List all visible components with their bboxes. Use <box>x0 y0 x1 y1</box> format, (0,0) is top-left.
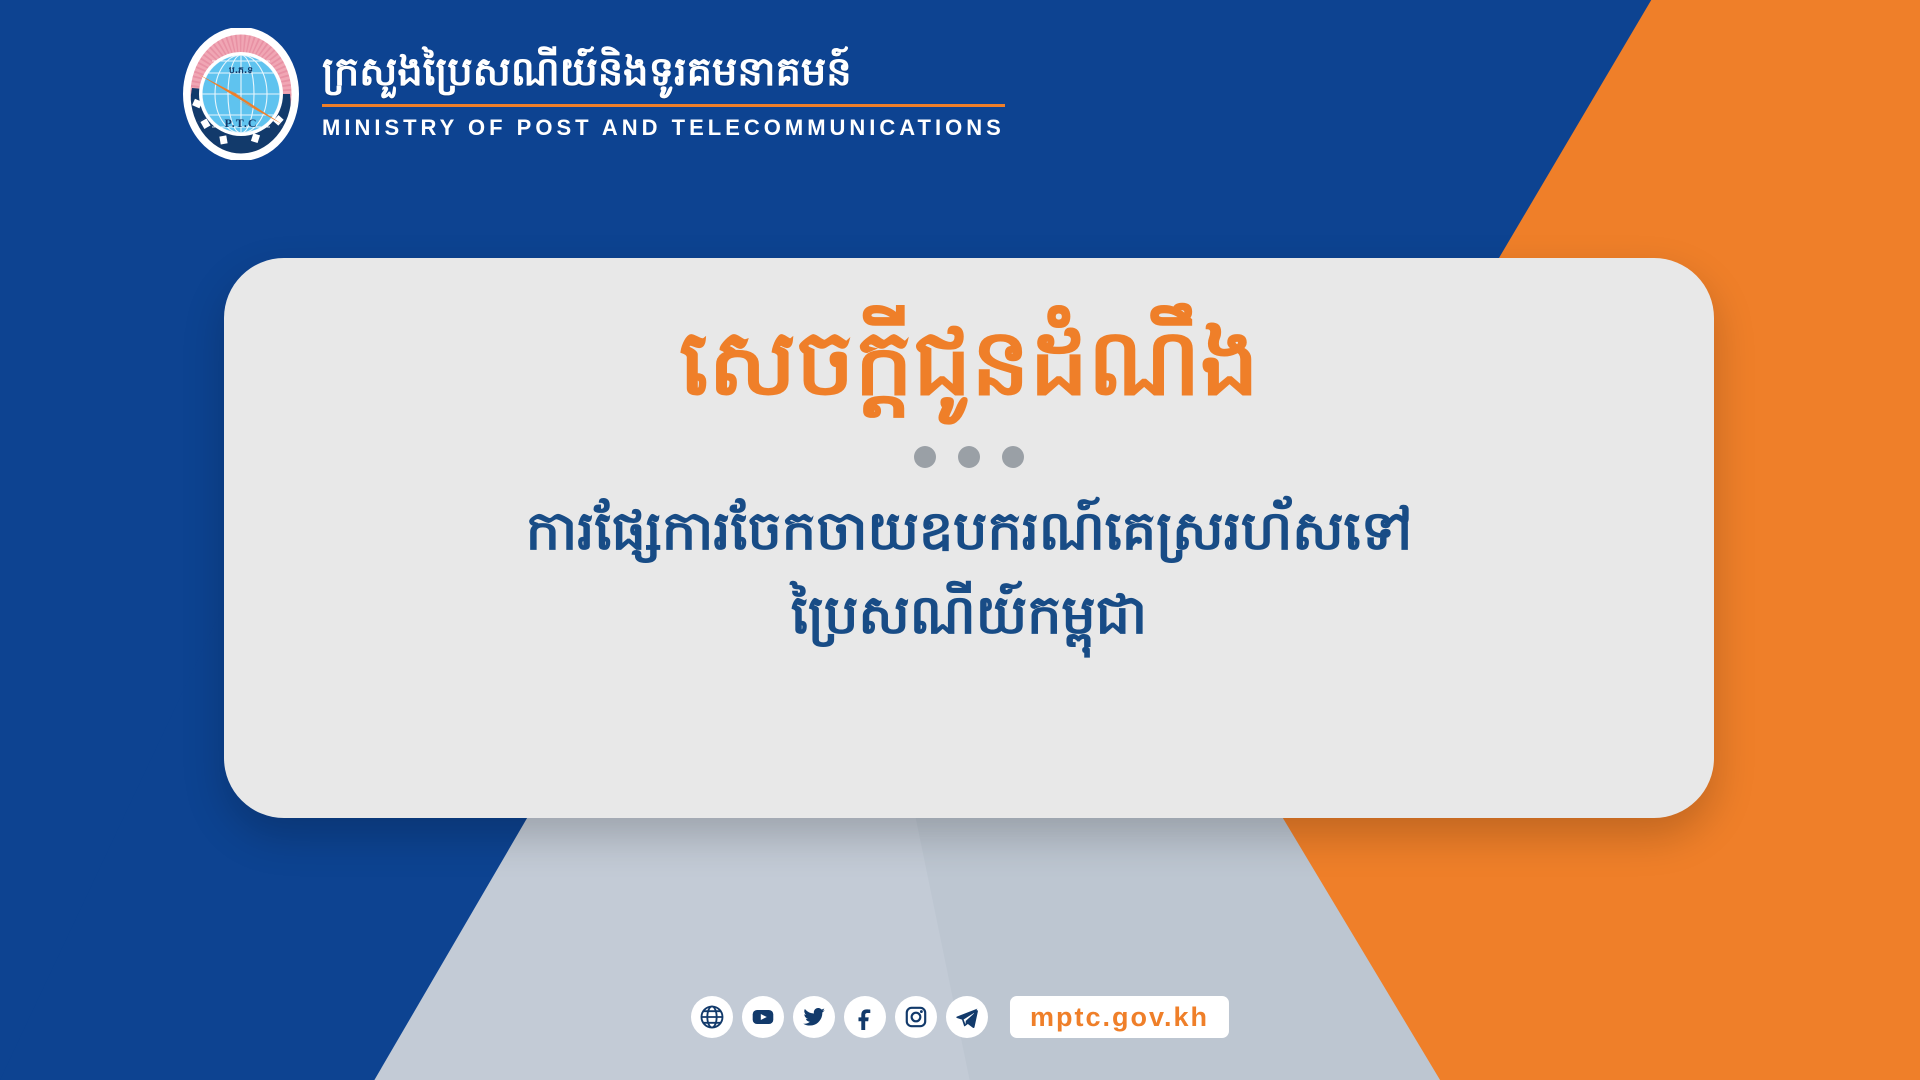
facebook-icon[interactable] <box>844 996 886 1038</box>
announcement-subtitle-line-1: ការផ្សែការចែកចាយឧបករណ៍គេស្ររហ័សទៅ <box>526 490 1412 574</box>
mptc-emblem-logo: ប.ភ.ទ P.T.C <box>182 28 300 160</box>
announcement-card: សេចក្តីជូនដំណឹង ការផ្សែការចែកចាយឧបករណ៍គេ… <box>224 258 1714 818</box>
ministry-name-english: MINISTRY OF POST AND TELECOMMUNICATIONS <box>322 115 1005 141</box>
website-url-text: mptc.gov.kh <box>1030 1004 1209 1031</box>
logo-text-top: ប.ភ.ទ <box>229 66 253 76</box>
logo-text-bottom: P.T.C <box>224 116 257 130</box>
website-url-pill[interactable]: mptc.gov.kh <box>1010 996 1229 1038</box>
instagram-icon[interactable] <box>895 996 937 1038</box>
separator-dot <box>1002 446 1024 468</box>
telegram-icon[interactable] <box>946 996 988 1038</box>
separator-dot <box>914 446 936 468</box>
header: ប.ភ.ទ P.T.C ក្រសួងប្រៃសណីយ៍និងទូរគមនាគមន… <box>182 28 1005 160</box>
footer-social-bar: mptc.gov.kh <box>691 996 1229 1038</box>
announcement-title: សេចក្តីជូនដំណឹង <box>679 294 1259 432</box>
ministry-name-khmer: ក្រសួងប្រៃសណីយ៍និងទូរគមនាគមន៍ <box>322 47 852 97</box>
announcement-subtitle: ការផ្សែការចែកចាយឧបករណ៍គេស្ររហ័សទៅ ប្រៃសណ… <box>486 490 1452 657</box>
twitter-icon[interactable] <box>793 996 835 1038</box>
ministry-brand-block: ក្រសួងប្រៃសណីយ៍និងទូរគមនាគមន៍ MINISTRY O… <box>322 47 1005 141</box>
separator-dot <box>958 446 980 468</box>
announcement-subtitle-line-2: ប្រៃសណីយ៍កម្ពុជា <box>526 574 1412 658</box>
dot-separator <box>914 446 1024 468</box>
youtube-icon[interactable] <box>742 996 784 1038</box>
website-globe-icon[interactable] <box>691 996 733 1038</box>
poster-canvas: ប.ភ.ទ P.T.C ក្រសួងប្រៃសណីយ៍និងទូរគមនាគមន… <box>0 0 1920 1080</box>
brand-divider-rule <box>322 104 1005 107</box>
